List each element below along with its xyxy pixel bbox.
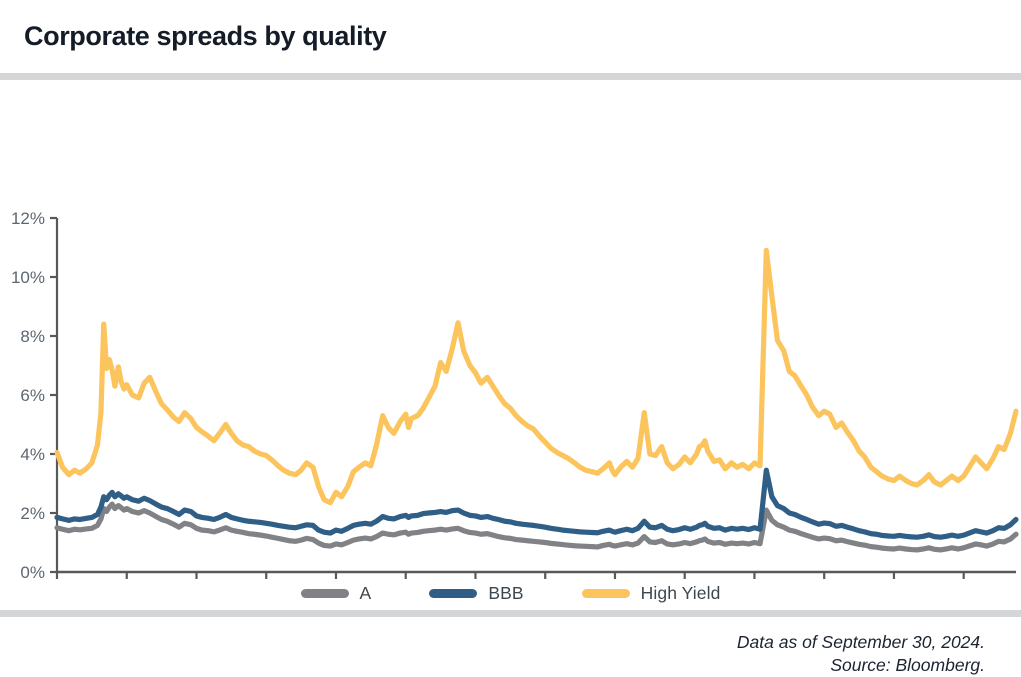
legend-swatch-high-yield [582,589,630,598]
legend-item-bbb[interactable]: BBB [429,583,523,604]
title-block: Corporate spreads by quality [0,0,1021,52]
y-axis-tick-label: 6% [20,386,45,405]
spreads-line-chart: 0%2%4%6%8%10%12% 20112012201320142015201… [0,80,1021,585]
footer-block: Data as of September 30, 2024. Source: B… [0,617,1021,677]
legend-swatch-a [301,589,349,598]
legend-item-high-yield[interactable]: High Yield [582,583,721,604]
y-axis-tick-label: 2% [20,504,45,523]
y-axis-tick-label: 0% [20,563,45,582]
chart-legend: A BBB High Yield [0,581,1021,606]
legend-label-bbb: BBB [488,583,523,604]
legend-swatch-bbb [429,589,477,598]
chart-page: Corporate spreads by quality 0%2%4%6%8%1… [0,0,1021,677]
y-axis: 0%2%4%6%8%10%12% [11,209,57,582]
footer-divider [0,610,1021,617]
chart-plot-area: 0%2%4%6%8%10%12% 20112012201320142015201… [0,80,1021,585]
y-axis-tick-label: 4% [20,445,45,464]
series-lines [57,250,1016,549]
header-divider [0,73,1021,80]
legend-item-a[interactable]: A [301,583,372,604]
source-text: Source: Bloomberg. [0,654,985,677]
y-axis-tick-label: 12% [11,209,45,228]
y-axis-tick-label: 10% [11,268,45,287]
page-title: Corporate spreads by quality [24,22,1021,52]
legend-label-high-yield: High Yield [641,583,721,604]
legend-label-a: A [360,583,372,604]
series-line-high-yield [57,250,1016,502]
data-as-of-text: Data as of September 30, 2024. [0,631,985,654]
y-axis-tick-label: 8% [20,327,45,346]
